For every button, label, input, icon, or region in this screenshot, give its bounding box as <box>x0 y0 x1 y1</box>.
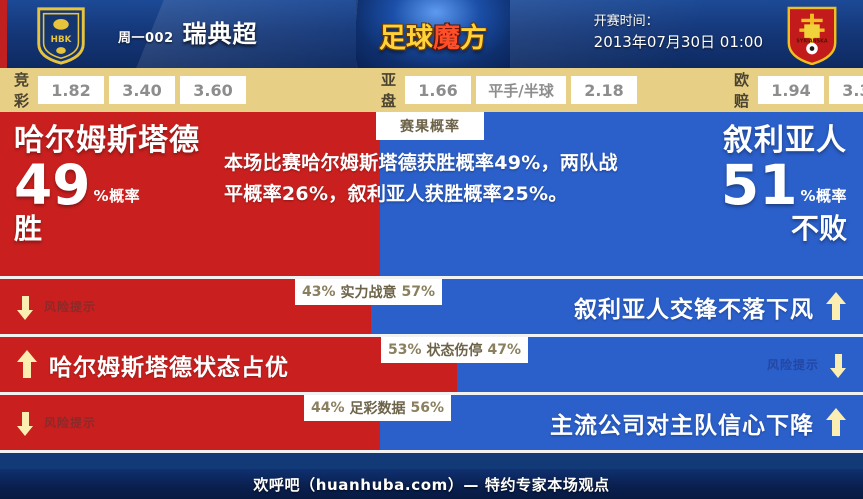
comparison-message-right-text: 主流公司对主队信心下降 <box>550 406 814 440</box>
risk-label-left: 风险提示 <box>44 298 96 315</box>
brand-text-part1: 足球 <box>379 23 433 54</box>
comparison-right-percent: 57% <box>402 284 436 300</box>
footer-bar: 欢呼吧（huanhuba.com）— 特约专家本场观点 <box>0 469 863 499</box>
odds-yapan-handicap[interactable]: 平手/半球 <box>476 76 566 104</box>
arrow-down-icon <box>16 294 34 320</box>
odds-label-jingcai: 竞彩 <box>14 69 30 111</box>
comparison-message-right: 叙利亚人交锋不落下风 <box>574 279 847 334</box>
comparison-metric-label: 实力战意 <box>341 282 397 302</box>
risk-indicator-right: 风险提示 <box>767 337 847 392</box>
odds-oupei-x[interactable]: 3.35 <box>829 76 863 104</box>
league-name: 瑞典超 <box>183 14 258 49</box>
arrow-up-icon <box>16 350 38 380</box>
svg-text:SYRIANSKA: SYRIANSKA <box>796 39 827 45</box>
arrow-down-icon <box>829 352 847 378</box>
risk-label-right: 风险提示 <box>767 356 819 373</box>
arrow-up-icon <box>825 292 847 322</box>
odds-jingcai-1[interactable]: 1.82 <box>38 76 104 104</box>
comparison-metric-label: 状态伤停 <box>427 340 483 360</box>
footer-text: 欢呼吧（huanhuba.com）— 特约专家本场观点 <box>253 474 609 495</box>
comparison-chip-betting-data: 44%足彩数据56% <box>304 395 451 421</box>
odds-jingcai-x[interactable]: 3.40 <box>109 76 175 104</box>
risk-indicator-left: 风险提示 <box>16 279 96 334</box>
home-team-crest-icon: HBK <box>32 5 90 65</box>
comparison-metric-label: 足彩数据 <box>350 398 406 418</box>
brand-text-part3: 方 <box>460 23 487 54</box>
comparison-message-left: 哈尔姆斯塔德状态占优 <box>16 337 289 392</box>
comparison-message-right-text: 叙利亚人交锋不落下风 <box>574 290 814 324</box>
kickoff-info: 开赛时间： 2013年07月30日 01:00 <box>594 12 763 53</box>
comparison-chip-strength-intent: 43%实力战意57% <box>295 279 442 305</box>
comparison-right-percent: 56% <box>411 400 445 416</box>
brand-logo[interactable]: 足球魔方 <box>356 0 510 68</box>
kickoff-label: 开赛时间： <box>594 12 763 32</box>
odds-group-yapan: 亚盘 1.66 平手/半球 2.18 <box>367 69 642 111</box>
odds-label-yapan: 亚盘 <box>381 69 397 111</box>
comparison-left-percent: 44% <box>311 400 345 416</box>
brand-text-part2: 魔 <box>433 23 460 54</box>
probability-band <box>0 112 863 276</box>
divider-4 <box>0 450 863 453</box>
risk-label-left: 风险提示 <box>44 414 96 431</box>
header-red-strip <box>0 0 7 68</box>
comparison-message-right: 主流公司对主队信心下降 <box>550 395 847 450</box>
match-number: 周一002 <box>118 27 174 46</box>
comparison-chip-form-injury: 53%状态伤停47% <box>381 337 528 363</box>
odds-jingcai-2[interactable]: 3.60 <box>180 76 246 104</box>
odds-group-jingcai: 竞彩 1.82 3.40 3.60 <box>0 69 251 111</box>
odds-group-oupei: 欧赔 1.94 3.35 3.66 <box>720 69 863 111</box>
odds-bar: 竞彩 1.82 3.40 3.60 亚盘 1.66 平手/半球 2.18 欧赔 … <box>0 68 863 112</box>
comparison-row-strength-intent: 风险提示叙利亚人交锋不落下风43%实力战意57% <box>0 279 863 334</box>
kickoff-value: 2013年07月30日 01:00 <box>594 32 763 53</box>
comparison-left-percent: 53% <box>388 342 422 358</box>
away-team-crest-icon: SYRIANSKA <box>783 5 841 65</box>
odds-yapan-home[interactable]: 1.66 <box>405 76 471 104</box>
risk-indicator-left: 风险提示 <box>16 395 96 450</box>
odds-oupei-1[interactable]: 1.94 <box>758 76 824 104</box>
match-meta: 周一002 瑞典超 <box>118 14 258 49</box>
arrow-down-icon <box>16 410 34 436</box>
odds-yapan-away[interactable]: 2.18 <box>571 76 637 104</box>
arrow-up-icon <box>825 408 847 438</box>
match-preview-infographic: HBK SYRIANSKA 周一002 瑞典超 足球魔方 开赛时间： 2013年… <box>0 0 863 499</box>
comparison-left-percent: 43% <box>302 284 336 300</box>
probability-home-fill <box>0 112 380 276</box>
probability-away-fill <box>380 112 863 276</box>
comparison-row-betting-data: 风险提示主流公司对主队信心下降44%足彩数据56% <box>0 395 863 450</box>
comparison-message-left-text: 哈尔姆斯塔德状态占优 <box>49 348 289 382</box>
comparison-right-percent: 47% <box>488 342 522 358</box>
comparison-row-form-injury: 哈尔姆斯塔德状态占优风险提示53%状态伤停47% <box>0 337 863 392</box>
header-bar: HBK SYRIANSKA 周一002 瑞典超 足球魔方 开赛时间： 2013年… <box>0 0 863 68</box>
brand-logo-text: 足球魔方 <box>356 16 510 55</box>
odds-label-oupei: 欧赔 <box>734 69 750 111</box>
svg-text:HBK: HBK <box>51 35 72 45</box>
